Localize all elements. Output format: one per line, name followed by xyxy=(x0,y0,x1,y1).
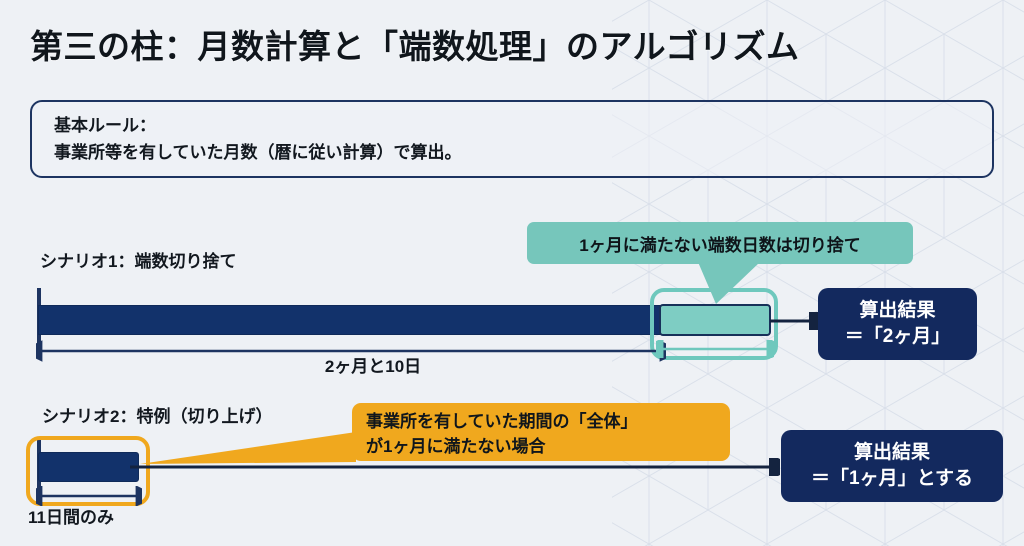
teal-callout-tail xyxy=(640,262,760,304)
scenario-2-result-line1: 算出結果 xyxy=(854,440,930,466)
scenario-1-callout: 1ヶ月に満たない端数日数は切り捨て xyxy=(527,222,913,264)
scenario-2-label: シナリオ2：特例（切り上げ） xyxy=(42,402,272,427)
rule-heading: 基本ルール： xyxy=(54,112,974,139)
slide-canvas: 第三の柱：月数計算と「端数処理」のアルゴリズム 基本ルール： 事業所等を有してい… xyxy=(0,0,1024,546)
scenario-1-label: シナリオ1：端数切り捨て xyxy=(40,247,236,272)
scenario-2-callout-line1: 事業所を有していた期間の「全体」 xyxy=(366,410,730,435)
scenario-1-full-month-bar xyxy=(38,305,661,335)
scenario-1-result-line2: ＝「2ヶ月」 xyxy=(845,324,951,350)
scenario-1-result-arrow xyxy=(770,312,820,330)
scenario-2-result-line2: ＝「1ヶ月」とする xyxy=(811,466,973,492)
basic-rule-box: 基本ルール： 事業所等を有していた月数（暦に従い計算）で算出。 xyxy=(30,100,994,178)
scenario-2-duration-label: 11日間のみ xyxy=(28,503,168,528)
orange-callout-tail xyxy=(140,432,356,470)
scenario-2-callout: 事業所を有していた期間の「全体」 が1ヶ月に満たない場合 xyxy=(352,403,730,461)
scenario-2-callout-line2: が1ヶ月に満たない場合 xyxy=(366,435,730,460)
scenario-1-callout-text: 1ヶ月に満たない端数日数は切り捨て xyxy=(579,231,860,256)
scenario-2-result-box: 算出結果 ＝「1ヶ月」とする xyxy=(781,430,1003,502)
scenario-1-fraction-dimension-arrow xyxy=(656,340,774,358)
scenario-1-result-line1: 算出結果 xyxy=(859,298,935,324)
scenario-1-result-box: 算出結果 ＝「2ヶ月」 xyxy=(818,288,977,360)
page-title: 第三の柱：月数計算と「端数処理」のアルゴリズム xyxy=(30,20,800,68)
rule-detail: 事業所等を有していた月数（暦に従い計算）で算出。 xyxy=(54,139,974,166)
scenario-1-duration-label: 2ヶ月と10日 xyxy=(253,352,493,377)
